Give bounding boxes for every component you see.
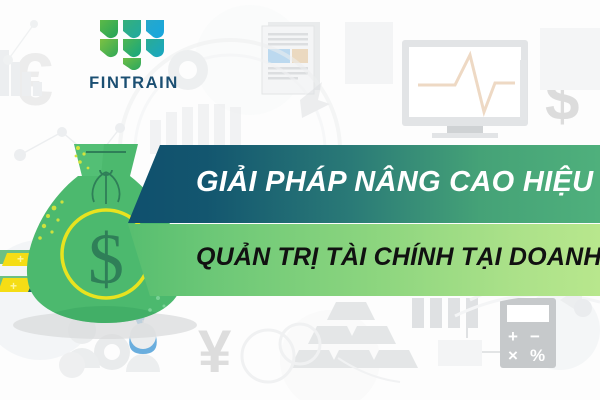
decor-circle: [520, 290, 600, 370]
network-nodes-icon-2: [3, 20, 38, 65]
gold-bars-stack-icon: [290, 302, 418, 368]
decor-ring: [242, 330, 294, 382]
decor-ring: [280, 324, 320, 364]
panel-icon: [540, 28, 600, 90]
headline-bottom-text: QUẢN TRỊ TÀI CHÍNH TẠI DOANH NGHIỆP: [196, 243, 600, 272]
calculator-icon: +− ×%: [500, 298, 556, 368]
bar-icon: [520, 60, 527, 120]
euro-symbol-icon: €: [12, 38, 53, 121]
box-icon: [438, 340, 482, 366]
dollar-symbol-icon: $: [545, 65, 579, 134]
svg-text:+: +: [17, 252, 24, 266]
monitor-pulse-icon: [402, 40, 528, 138]
document-sheet-icon: [345, 22, 393, 84]
decor-circle: [280, 310, 380, 400]
fintrain-leaf-grid-logo-icon: [98, 18, 168, 70]
svg-text:%: %: [530, 346, 545, 365]
brand-logo: FINTRAIN: [74, 18, 194, 98]
headline-top-text: GIẢI PHÁP NÂNG CAO HIỆU QUẢ: [196, 166, 600, 199]
decor-circle: [195, 5, 305, 115]
brand-name: FINTRAIN: [74, 74, 194, 93]
svg-text:×: ×: [508, 346, 518, 365]
bar-chart-icon-2: [412, 298, 478, 338]
svg-text:+: +: [508, 327, 518, 346]
decor-dot: [574, 299, 592, 317]
svg-text:−: −: [530, 327, 540, 346]
dollar-sign-icon: $: [88, 219, 124, 299]
decor-arc: [455, 295, 600, 316]
promo-banner-canvas: € $ ¥: [0, 0, 600, 400]
decor-arc: [338, 358, 400, 382]
bar-chart-icon: [0, 50, 42, 96]
svg-text:+: +: [10, 279, 17, 293]
document-pages-icon: [262, 22, 320, 94]
decor-dot: [59, 352, 85, 378]
